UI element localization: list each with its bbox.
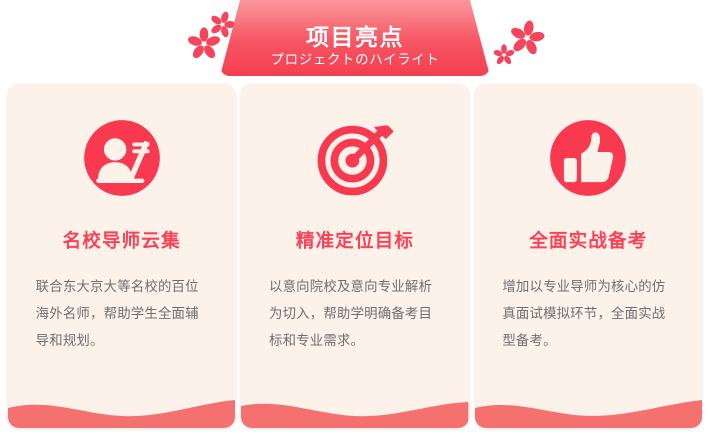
- target-icon: [309, 112, 401, 204]
- highlight-card[interactable]: 全面实战备考 增加以专业导师为核心的仿真面试模拟环节，全面实战型备考。: [475, 84, 702, 428]
- wave-decoration: [8, 394, 235, 428]
- card-title: 全面实战备考: [529, 232, 647, 251]
- thumbs-up-icon: [542, 112, 634, 204]
- highlight-cards: 名校导师云集 联合东大京大等名校的百位海外名师，帮助学生全面辅导和规划。 精准定…: [8, 84, 702, 428]
- card-description: 联合东大京大等名校的百位海外名师，帮助学生全面辅导和规划。: [36, 273, 208, 355]
- sakura-flower-right-small: [493, 44, 515, 71]
- highlight-card[interactable]: 精准定位目标 以意向院校及意向专业解析为切入，帮助学明确备考目标和专业需求。: [241, 84, 468, 428]
- card-title: 名校导师云集: [63, 232, 181, 251]
- card-description: 增加以专业导师为核心的仿真面试模拟环节，全面实战型备考。: [502, 273, 674, 355]
- wave-decoration: [475, 394, 702, 428]
- banner: 项目亮点 プロジェクトのハイライト: [220, 0, 490, 76]
- teacher-icon: [76, 112, 168, 204]
- card-title: 精准定位目标: [296, 232, 414, 251]
- card-description: 以意向院校及意向专业解析为切入，帮助学明确备考目标和专业需求。: [269, 273, 441, 355]
- page-header: 项目亮点 プロジェクトのハイライト: [0, 0, 710, 82]
- banner-title: 项目亮点: [306, 25, 404, 51]
- wave-decoration: [241, 394, 468, 428]
- highlight-card[interactable]: 名校导师云集 联合东大京大等名校的百位海外名师，帮助学生全面辅导和规划。: [8, 84, 235, 428]
- banner-subtitle: プロジェクトのハイライト: [271, 51, 440, 69]
